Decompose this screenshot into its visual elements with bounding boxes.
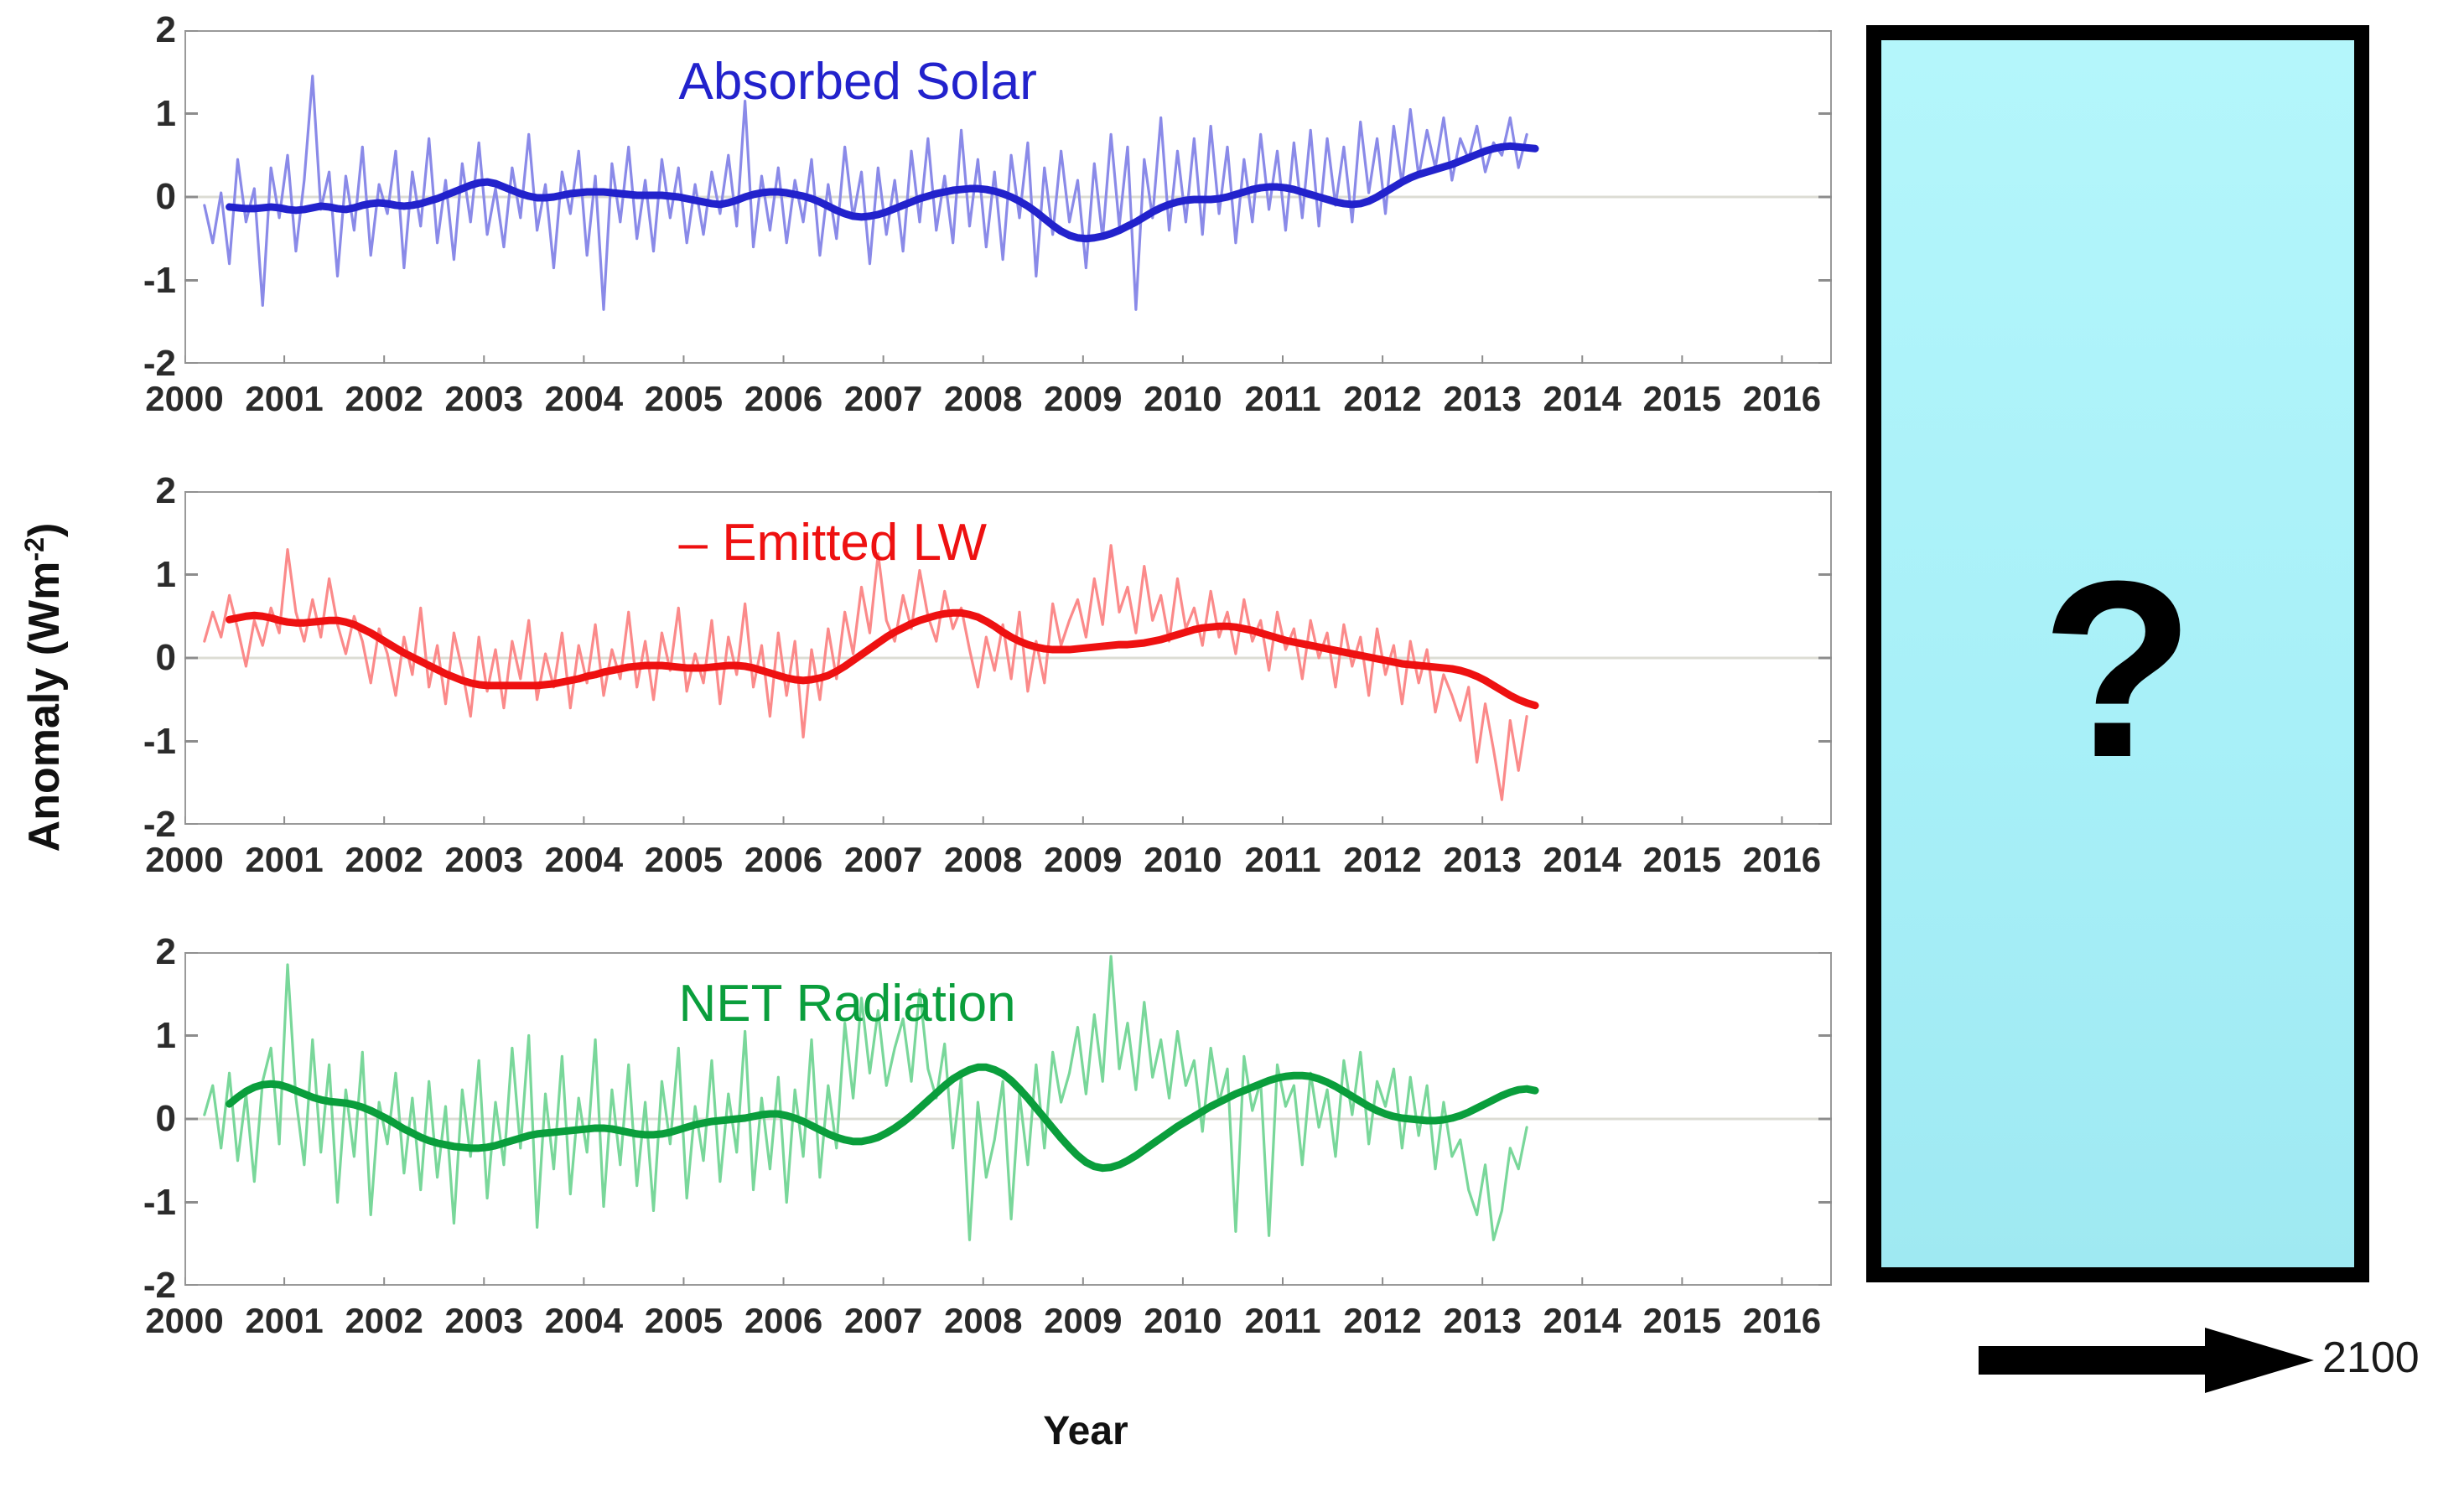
y-axis-label-main: Anomaly (Wm: [20, 562, 69, 852]
y-tick-label: 0: [84, 1100, 176, 1137]
series-title-net-radiation: NET Radiation: [679, 974, 1016, 1033]
x-tick-label: 2011: [1244, 840, 1320, 880]
y-tick-label: -2: [84, 345, 176, 382]
x-tick-label: 2015: [1643, 1301, 1721, 1341]
future-projection-box: ?: [1866, 25, 2369, 1282]
y-axis-label: Anomaly (Wm-2): [15, 469, 74, 905]
x-tick-label: 2001: [245, 1301, 323, 1341]
x-tick-label: 2008: [944, 840, 1022, 880]
x-tick-labels: 2000200120022003200420052006200720082009…: [184, 836, 1832, 887]
x-tick-label: 2010: [1144, 379, 1222, 419]
x-tick-label: 2011: [1244, 1301, 1320, 1341]
x-tick-label: 2001: [245, 840, 323, 880]
x-tick-label: 2003: [445, 840, 523, 880]
x-tick-label: 2013: [1443, 379, 1521, 419]
x-tick-label: 2012: [1343, 379, 1421, 419]
y-tick-label: 0: [84, 640, 176, 676]
x-tick-label: 2005: [645, 840, 723, 880]
panel-absorbed-solar: 210-1-2 20002001200220032004200520062007…: [84, 17, 1836, 453]
y-tick-label: 1: [84, 1018, 176, 1054]
x-tick-labels: 2000200120022003200420052006200720082009…: [184, 1297, 1832, 1348]
x-tick-labels: 2000200120022003200420052006200720082009…: [184, 375, 1832, 426]
y-tick-label: -1: [84, 262, 176, 299]
x-tick-label: 2015: [1643, 379, 1721, 419]
y-tick-label: -2: [84, 1267, 176, 1304]
x-tick-label: 2004: [545, 1301, 623, 1341]
x-tick-label: 2015: [1643, 840, 1721, 880]
x-tick-label: 2002: [345, 1301, 423, 1341]
x-tick-label: 2000: [145, 840, 223, 880]
x-tick-label: 2011: [1244, 379, 1320, 419]
x-tick-label: 2007: [844, 379, 922, 419]
x-tick-label: 2003: [445, 1301, 523, 1341]
x-tick-label: 2006: [744, 379, 822, 419]
x-tick-label: 2006: [744, 840, 822, 880]
y-tick-labels: 210-1-2: [84, 30, 176, 364]
y-tick-label: 2: [84, 473, 176, 510]
x-tick-label: 2009: [1044, 1301, 1122, 1341]
right-arrow-icon: [1979, 1323, 2314, 1398]
y-tick-label: -1: [84, 723, 176, 760]
y-tick-label: -1: [84, 1184, 176, 1221]
y-tick-label: 1: [84, 557, 176, 593]
x-tick-label: 2007: [844, 1301, 922, 1341]
y-axis-label-close: ): [20, 523, 69, 537]
x-tick-label: 2010: [1144, 840, 1222, 880]
y-tick-labels: 210-1-2: [84, 491, 176, 825]
x-tick-label: 2006: [744, 1301, 822, 1341]
y-tick-label: 0: [84, 179, 176, 215]
x-tick-label: 2012: [1343, 1301, 1421, 1341]
x-tick-label: 2016: [1743, 840, 1821, 880]
x-tick-label: 2010: [1144, 1301, 1222, 1341]
x-tick-label: 2001: [245, 379, 323, 419]
y-tick-label: 2: [84, 12, 176, 49]
x-tick-label: 2014: [1543, 1301, 1621, 1341]
series-title-absorbed-solar: Absorbed Solar: [679, 52, 1037, 111]
x-tick-label: 2014: [1543, 379, 1621, 419]
future-year-label: 2100: [2322, 1333, 2420, 1383]
panels-area: Anomaly (Wm-2) 210-1-2 20002001200220032…: [0, 0, 1844, 1507]
radiation-anomaly-figure: Anomaly (Wm-2) 210-1-2 20002001200220032…: [0, 0, 2464, 1507]
question-mark-glyph: ?: [1881, 543, 2354, 795]
x-tick-label: 2016: [1743, 1301, 1821, 1341]
x-tick-label: 2008: [944, 379, 1022, 419]
x-tick-label: 2007: [844, 840, 922, 880]
panel-emitted-lw: 210-1-2 20002001200220032004200520062007…: [84, 478, 1836, 914]
x-tick-label: 2012: [1343, 840, 1421, 880]
x-tick-label: 2013: [1443, 840, 1521, 880]
x-tick-label: 2005: [645, 379, 723, 419]
x-tick-label: 2003: [445, 379, 523, 419]
x-tick-label: 2005: [645, 1301, 723, 1341]
x-tick-label: 2013: [1443, 1301, 1521, 1341]
x-tick-label: 2014: [1543, 840, 1621, 880]
x-tick-label: 2016: [1743, 379, 1821, 419]
x-tick-label: 2004: [545, 840, 623, 880]
series-title-emitted-lw: – Emitted LW: [679, 513, 988, 572]
x-tick-label: 2004: [545, 379, 623, 419]
y-tick-label: 2: [84, 934, 176, 971]
y-tick-labels: 210-1-2: [84, 952, 176, 1286]
x-tick-label: 2008: [944, 1301, 1022, 1341]
y-tick-label: 1: [84, 96, 176, 132]
x-tick-label: 2009: [1044, 379, 1122, 419]
x-axis-label: Year: [910, 1408, 1262, 1454]
x-tick-label: 2002: [345, 840, 423, 880]
y-tick-label: -2: [84, 806, 176, 843]
x-tick-label: 2000: [145, 379, 223, 419]
x-tick-label: 2009: [1044, 840, 1122, 880]
x-tick-label: 2002: [345, 379, 423, 419]
y-axis-label-exponent: -2: [19, 537, 49, 562]
plot-area-emitted-lw: [184, 491, 1832, 825]
x-tick-label: 2000: [145, 1301, 223, 1341]
panel-net-radiation: 210-1-2 20002001200220032004200520062007…: [84, 939, 1836, 1375]
